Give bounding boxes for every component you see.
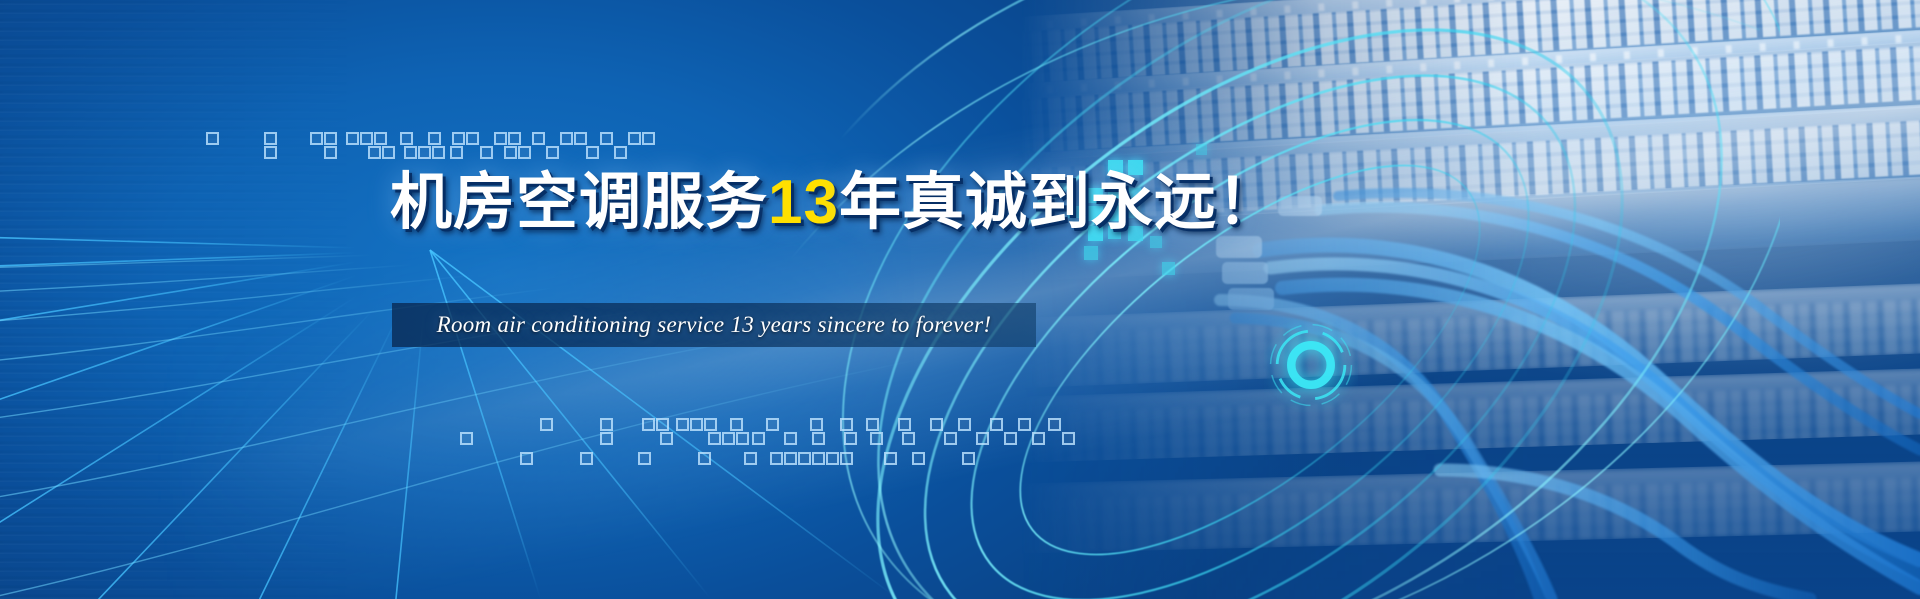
headline-prefix: 机房空调服务 — [390, 168, 768, 237]
hero-banner: 机房空调服务13年真诚到永远！ Room air conditioning se… — [0, 0, 1920, 599]
headline-suffix: 年真诚到永远！ — [839, 168, 1280, 237]
subtitle-text: Room air conditioning service 13 years s… — [392, 303, 1036, 347]
light-swirl-arcs — [780, 0, 1780, 599]
page-title: 机房空调服务13年真诚到永远！ — [390, 172, 1280, 234]
headline-accent-years: 13 — [768, 168, 839, 237]
tech-ring-icon — [1264, 318, 1358, 412]
